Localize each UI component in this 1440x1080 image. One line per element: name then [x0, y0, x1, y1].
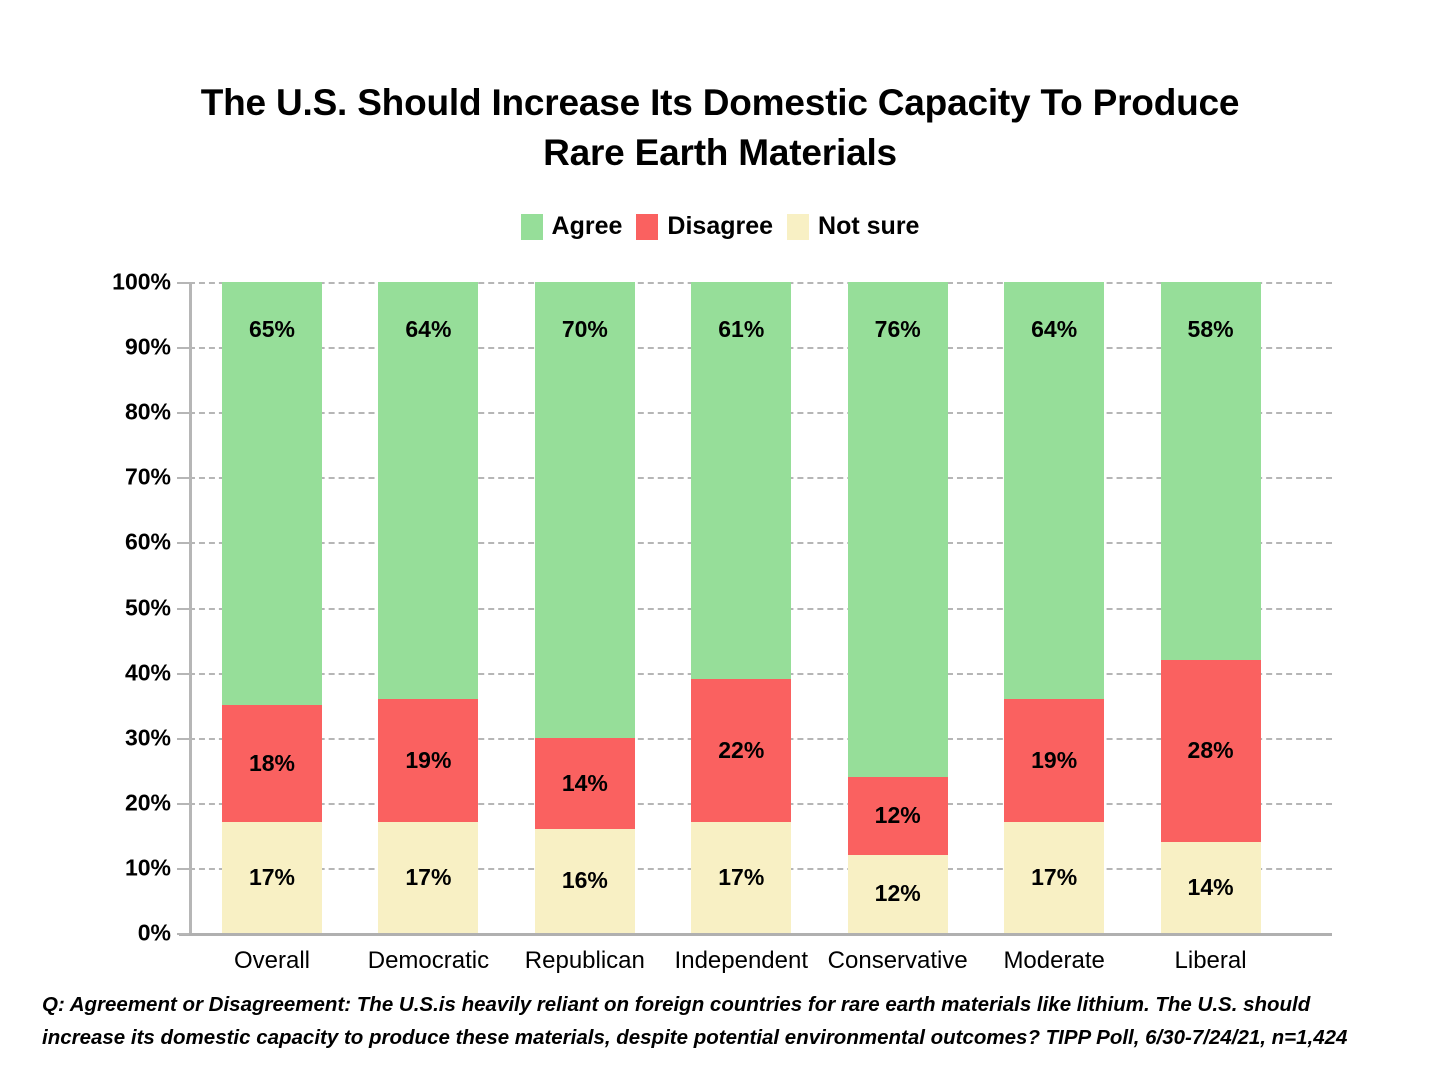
bar-segment-disagree[interactable]: 19%: [1004, 699, 1104, 823]
bar-segment-agree[interactable]: 58%: [1161, 282, 1261, 660]
chart-legend: AgreeDisagreeNot sure: [0, 212, 1440, 241]
bar-segment-agree[interactable]: 64%: [1004, 282, 1104, 699]
bar-segment-label: 17%: [1031, 864, 1077, 891]
bar-group[interactable]: 14%28%58%: [1161, 282, 1261, 933]
bar-stack: 16%14%70%: [535, 282, 635, 933]
x-axis-label-moderate: Moderate: [964, 947, 1144, 975]
bar-series-group: 17%18%65%17%19%64%16%14%70%17%22%61%12%1…: [189, 282, 1332, 933]
bar-segment-agree[interactable]: 61%: [691, 282, 791, 679]
y-axis-tick-label: 60%: [125, 529, 171, 556]
x-axis-label-independent: Independent: [651, 947, 831, 975]
legend-item-label: Agree: [552, 212, 623, 241]
legend-item-agree[interactable]: Agree: [521, 212, 623, 241]
bar-segment-label: 76%: [875, 316, 921, 343]
bar-segment-agree[interactable]: 64%: [378, 282, 478, 699]
bar-segment-label: 22%: [718, 737, 764, 764]
x-axis-label-conservative: Conservative: [808, 947, 988, 975]
bar-stack: 17%22%61%: [691, 282, 791, 933]
bar-segment-disagree[interactable]: 22%: [691, 679, 791, 822]
bar-segment-agree[interactable]: 70%: [535, 282, 635, 738]
x-axis-label-liberal: Liberal: [1121, 947, 1301, 975]
bar-group[interactable]: 16%14%70%: [535, 282, 635, 933]
y-axis-tick: [177, 412, 189, 414]
legend-item-label: Disagree: [667, 212, 773, 241]
y-axis-tick-label: 100%: [112, 269, 171, 296]
legend-item-disagree[interactable]: Disagree: [636, 212, 773, 241]
bar-segment-not-sure[interactable]: 17%: [222, 822, 322, 933]
bar-segment-label: 19%: [405, 747, 451, 774]
bar-stack: 17%18%65%: [222, 282, 322, 933]
bar-segment-agree[interactable]: 76%: [848, 282, 948, 777]
bar-segment-label: 18%: [249, 750, 295, 777]
footnote-line-2: increase its domestic capacity to produc…: [42, 1021, 1402, 1054]
bar-stack: 17%19%64%: [378, 282, 478, 933]
bar-segment-disagree[interactable]: 12%: [848, 777, 948, 855]
bar-segment-not-sure[interactable]: 14%: [1161, 842, 1261, 933]
bar-segment-label: 64%: [1031, 316, 1077, 343]
chart-title: The U.S. Should Increase Its Domestic Ca…: [0, 78, 1440, 178]
chart-title-line-2: Rare Earth Materials: [0, 128, 1440, 178]
bar-segment-label: 12%: [875, 880, 921, 907]
bar-segment-label: 19%: [1031, 747, 1077, 774]
bar-stack: 14%28%58%: [1161, 282, 1261, 933]
bar-group[interactable]: 17%19%64%: [1004, 282, 1104, 933]
y-axis-tick: [177, 868, 189, 870]
x-axis-label-republican: Republican: [495, 947, 675, 975]
chart-footnote: Q: Agreement or Disagreement: The U.S.is…: [42, 988, 1402, 1054]
legend-item-not-sure[interactable]: Not sure: [787, 212, 919, 241]
legend-swatch-icon: [636, 214, 658, 240]
plot-area: 100%90%80%70%60%50%40%30%20%10%0% 17%18%…: [189, 282, 1332, 933]
bar-segment-disagree[interactable]: 14%: [535, 738, 635, 829]
y-axis-tick-label: 80%: [125, 399, 171, 426]
x-axis-labels: OverallDemocraticRepublicanIndependentCo…: [189, 947, 1332, 987]
bar-segment-label: 65%: [249, 316, 295, 343]
y-axis-tick: [177, 282, 189, 284]
y-axis-tick-label: 10%: [125, 854, 171, 881]
bar-segment-label: 17%: [249, 864, 295, 891]
y-axis-tick-label: 50%: [125, 594, 171, 621]
bar-segment-not-sure[interactable]: 17%: [1004, 822, 1104, 933]
bar-segment-disagree[interactable]: 18%: [222, 705, 322, 822]
y-axis-tick-label: 70%: [125, 464, 171, 491]
bar-segment-label: 14%: [1188, 874, 1234, 901]
bar-group[interactable]: 17%22%61%: [691, 282, 791, 933]
y-axis-tick-label: 30%: [125, 724, 171, 751]
y-axis-tick: [177, 608, 189, 610]
bar-segment-label: 70%: [562, 316, 608, 343]
bar-segment-label: 64%: [405, 316, 451, 343]
bar-segment-disagree[interactable]: 28%: [1161, 660, 1261, 842]
bar-segment-label: 61%: [718, 316, 764, 343]
legend-swatch-icon: [521, 214, 543, 240]
bar-segment-not-sure[interactable]: 16%: [535, 829, 635, 933]
bar-group[interactable]: 17%18%65%: [222, 282, 322, 933]
y-axis-tick: [177, 933, 189, 935]
bar-group[interactable]: 17%19%64%: [378, 282, 478, 933]
y-axis-tick: [177, 673, 189, 675]
bar-stack: 12%12%76%: [848, 282, 948, 933]
y-axis-tick-label: 20%: [125, 789, 171, 816]
x-axis-label-democratic: Democratic: [338, 947, 518, 975]
bar-segment-label: 17%: [718, 864, 764, 891]
legend-item-label: Not sure: [818, 212, 919, 241]
bar-segment-label: 28%: [1188, 737, 1234, 764]
y-axis-tick: [177, 542, 189, 544]
chart-container: The U.S. Should Increase Its Domestic Ca…: [0, 0, 1440, 1080]
bar-segment-label: 14%: [562, 770, 608, 797]
bar-segment-not-sure[interactable]: 12%: [848, 855, 948, 933]
bar-group[interactable]: 12%12%76%: [848, 282, 948, 933]
chart-title-line-1: The U.S. Should Increase Its Domestic Ca…: [0, 78, 1440, 128]
x-axis-label-overall: Overall: [182, 947, 362, 975]
bar-segment-agree[interactable]: 65%: [222, 282, 322, 705]
bar-segment-label: 12%: [875, 802, 921, 829]
y-axis-tick: [177, 477, 189, 479]
y-axis-tick-label: 0%: [138, 920, 171, 947]
bar-segment-not-sure[interactable]: 17%: [378, 822, 478, 933]
legend-swatch-icon: [787, 214, 809, 240]
bar-stack: 17%19%64%: [1004, 282, 1104, 933]
bar-segment-label: 17%: [405, 864, 451, 891]
y-axis-tick: [177, 738, 189, 740]
y-axis-tick-label: 90%: [125, 334, 171, 361]
bar-segment-label: 16%: [562, 867, 608, 894]
bar-segment-not-sure[interactable]: 17%: [691, 822, 791, 933]
y-axis-tick-label: 40%: [125, 659, 171, 686]
y-axis-tick: [177, 803, 189, 805]
y-axis-tick: [177, 347, 189, 349]
bar-segment-label: 58%: [1188, 316, 1234, 343]
gridline: [179, 933, 1332, 936]
bar-segment-disagree[interactable]: 19%: [378, 699, 478, 823]
footnote-line-1: Q: Agreement or Disagreement: The U.S.is…: [42, 988, 1402, 1021]
